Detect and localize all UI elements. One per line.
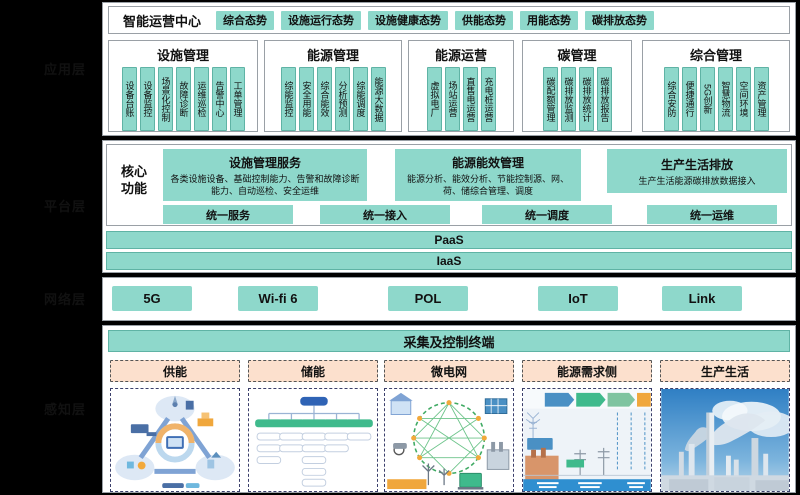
perception-column-label[interactable]: 能源需求侧 [522, 360, 652, 382]
app-item-carbon-monitoring[interactable]: 碳排放监测 [561, 67, 576, 131]
perception-column-label[interactable]: 生产生活 [660, 360, 790, 382]
core-label-line1: 核心 [111, 163, 157, 180]
perception-column-demand-side: 能源需求侧 [522, 360, 652, 492]
app-group-comprehensive-management: 综合管理 综合安防 便捷通行 5G创新 智慧物流 空间环境 资产管理 [642, 40, 790, 132]
core-card-desc: 各类设施设备、基础控制能力、告警和故障诊断能力、自动巡检、安全运维 [168, 173, 362, 197]
app-item-carbon-report[interactable]: 碳排放报告 [597, 67, 612, 131]
ioc-tag-facility-operation[interactable]: 设施运行态势 [281, 11, 361, 30]
app-group-carbon-management: 碳管理 碳配额管理 碳排放监测 碳排放统计 碳排放报告 [522, 40, 632, 132]
ioc-title: 智能运营中心 [115, 11, 209, 30]
app-item-safe-energy-use[interactable]: 安全用能 [299, 67, 314, 131]
core-card-title: 生产生活排放 [661, 156, 733, 173]
ioc-tag-comprehensive[interactable]: 综合态势 [216, 11, 274, 30]
app-chip-row: 设备台账 设备监控 场景化控制 故障诊断 运维巡检 告警中心 工单管理 [109, 67, 257, 131]
ioc-tag-carbon-emission[interactable]: 碳排放态势 [585, 11, 654, 30]
industrial-smokestacks-photo [660, 388, 790, 492]
app-group-title: 综合管理 [690, 45, 742, 64]
app-item-smart-logistics[interactable]: 智慧物流 [718, 67, 733, 131]
app-item-energy-dispatch[interactable]: 综能调度 [353, 67, 368, 131]
app-item-equipment-ledger[interactable]: 设备台账 [122, 67, 137, 131]
core-card-desc: 生产生活能源碳排放数据接入 [638, 175, 755, 187]
perception-column-production-life: 生产生活 [660, 360, 790, 492]
core-card-desc: 能源分析、能效分析、节能控制源、网、荷、储综合管理、调度 [400, 173, 576, 197]
org-tree-chart [248, 388, 378, 492]
platform-layer-label: 平台层 [30, 140, 100, 273]
core-card-energy-efficiency[interactable]: 能源能效管理 能源分析、能效分析、节能控制源、网、荷、储综合管理、调度 [395, 149, 581, 201]
network-item-iot[interactable]: IoT [538, 286, 618, 311]
network-layer-label: 网络层 [30, 277, 100, 321]
core-card-facility-service[interactable]: 设施管理服务 各类设施设备、基础控制能力、告警和故障诊断能力、自动巡检、安全运维 [163, 149, 367, 201]
architecture-diagram: 应用层 智能运营中心 综合态势 设施运行态势 设施健康态势 供能态势 用能态势 … [0, 0, 800, 495]
acquisition-control-terminal-bar[interactable]: 采集及控制终端 [108, 330, 790, 352]
app-item-charging-pile-operation[interactable]: 充电桩运营 [481, 67, 496, 131]
app-chip-row: 虚拟电厂 场站运营 直售电运营 充电桩运营 [409, 67, 513, 131]
app-item-carbon-statistics[interactable]: 碳排放统计 [579, 67, 594, 131]
app-item-energy-bigdata[interactable]: 能源大数据 [371, 67, 386, 131]
app-item-fault-diagnosis[interactable]: 故障诊断 [176, 67, 191, 131]
app-item-carbon-quota[interactable]: 碳配额管理 [543, 67, 558, 131]
paas-bar[interactable]: PaaS [106, 231, 792, 249]
core-label-line2: 功能 [111, 180, 157, 197]
core-card-title: 能源能效管理 [452, 154, 524, 171]
perception-column-label[interactable]: 储能 [248, 360, 378, 382]
app-item-station-operation[interactable]: 场站运营 [445, 67, 460, 131]
app-group-title: 能源管理 [307, 45, 359, 64]
ioc-tag-supply[interactable]: 供能态势 [455, 11, 513, 30]
app-group-title: 设施管理 [157, 45, 209, 64]
microgrid-network-diagram [384, 388, 514, 492]
iaas-bar[interactable]: IaaS [106, 252, 792, 270]
network-item-5g[interactable]: 5G [112, 286, 192, 311]
network-item-wifi6[interactable]: Wi-fi 6 [238, 286, 318, 311]
app-item-direct-power-sales[interactable]: 直售电运营 [463, 67, 478, 131]
network-item-link[interactable]: Link [662, 286, 742, 311]
unified-dispatch-chip[interactable]: 统一调度 [482, 205, 612, 224]
core-functions-label: 核心 功能 [111, 163, 157, 197]
app-group-energy-management: 能源管理 综能监控 安全用能 综合能效 分析预测 综能调度 能源大数据 [264, 40, 402, 132]
intelligent-operation-center-bar: 智能运营中心 综合态势 设施运行态势 设施健康态势 供能态势 用能态势 碳排放态… [108, 6, 790, 34]
app-item-virtual-power-plant[interactable]: 虚拟电厂 [427, 67, 442, 131]
app-chip-row: 碳配额管理 碳排放监测 碳排放统计 碳排放报告 [523, 67, 631, 131]
app-group-facility-management: 设施管理 设备台账 设备监控 场景化控制 故障诊断 运维巡检 告警中心 工单管理 [108, 40, 258, 132]
perception-column-energy-storage: 储能 [248, 360, 378, 492]
core-card-production-emission[interactable]: 生产生活排放 生产生活能源碳排放数据接入 [607, 149, 787, 193]
app-item-comprehensive-efficiency[interactable]: 综合能效 [317, 67, 332, 131]
app-chip-row: 综合安防 便捷通行 5G创新 智慧物流 空间环境 资产管理 [643, 67, 789, 131]
app-group-title: 碳管理 [557, 45, 596, 64]
app-item-ops-inspection[interactable]: 运维巡检 [194, 67, 209, 131]
unified-ops-chip[interactable]: 统一运维 [647, 205, 777, 224]
app-chip-row: 综能监控 安全用能 综合能效 分析预测 综能调度 能源大数据 [265, 67, 401, 131]
app-item-integrated-energy-monitor[interactable]: 综能监控 [281, 67, 296, 131]
app-item-5g-innovation[interactable]: 5G创新 [700, 67, 715, 131]
app-item-convenient-access[interactable]: 便捷通行 [682, 67, 697, 131]
perception-column-energy-supply: 供能 [110, 360, 240, 492]
core-card-title: 设施管理服务 [229, 154, 301, 171]
unified-access-chip[interactable]: 统一接入 [320, 205, 450, 224]
app-group-title: 能源运营 [435, 45, 487, 64]
triangle-energy-cycle-diagram [110, 388, 240, 492]
ioc-tag-consumption[interactable]: 用能态势 [520, 11, 578, 30]
app-item-work-order[interactable]: 工单管理 [230, 67, 245, 131]
app-item-equipment-monitor[interactable]: 设备监控 [140, 67, 155, 131]
app-group-energy-operation: 能源运营 虚拟电厂 场站运营 直售电运营 充电桩运营 [408, 40, 514, 132]
network-item-pol[interactable]: POL [388, 286, 468, 311]
app-item-security[interactable]: 综合安防 [664, 67, 679, 131]
app-item-scene-control[interactable]: 场景化控制 [158, 67, 173, 131]
application-layer-label: 应用层 [30, 2, 100, 136]
core-functions-panel: 核心 功能 设施管理服务 各类设施设备、基础控制能力、告警和故障诊断能力、自动巡… [106, 144, 792, 226]
perception-column-microgrid: 微电网 [384, 360, 514, 492]
app-item-analysis-forecast[interactable]: 分析预测 [335, 67, 350, 131]
unified-service-chip[interactable]: 统一服务 [163, 205, 293, 224]
perception-column-label[interactable]: 供能 [110, 360, 240, 382]
perception-layer-label: 感知层 [30, 325, 100, 493]
app-item-space-environment[interactable]: 空间环境 [736, 67, 751, 131]
app-item-asset-management[interactable]: 资产管理 [754, 67, 769, 131]
ioc-tag-facility-health[interactable]: 设施健康态势 [368, 11, 448, 30]
app-item-alarm-center[interactable]: 告警中心 [212, 67, 227, 131]
perception-column-label[interactable]: 微电网 [384, 360, 514, 382]
energy-flow-chart [522, 388, 652, 492]
